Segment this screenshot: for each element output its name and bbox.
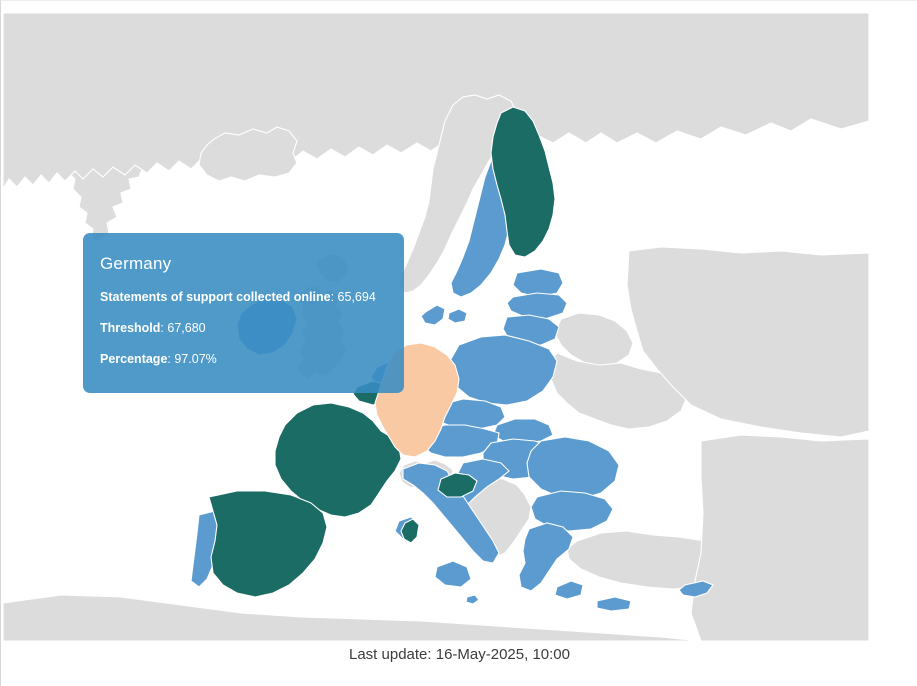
tooltip-value-percentage: 97.07% <box>174 352 216 366</box>
tooltip-label-threshold: Threshold <box>100 321 160 335</box>
tooltip-label-percentage: Percentage <box>100 352 167 366</box>
tooltip-row-statements: Statements of support collected online: … <box>100 290 388 305</box>
last-update-text: Last update: 16-May-2025, 10:00 <box>1 646 917 663</box>
tooltip-row-threshold: Threshold: 67,680 <box>100 321 388 336</box>
tooltip-country-name: Germany <box>100 254 388 274</box>
tooltip-value-threshold: 67,680 <box>167 321 205 335</box>
country-tooltip: Germany Statements of support collected … <box>83 233 404 393</box>
tooltip-separator-statements: : <box>331 290 338 304</box>
tooltip-row-percentage: Percentage: 97.07% <box>100 352 388 367</box>
tooltip-label-statements: Statements of support collected online <box>100 290 331 304</box>
landmass-middle-east <box>691 435 869 641</box>
map-page: Germany Statements of support collected … <box>0 0 917 686</box>
tooltip-value-statements: 65,694 <box>338 290 376 304</box>
